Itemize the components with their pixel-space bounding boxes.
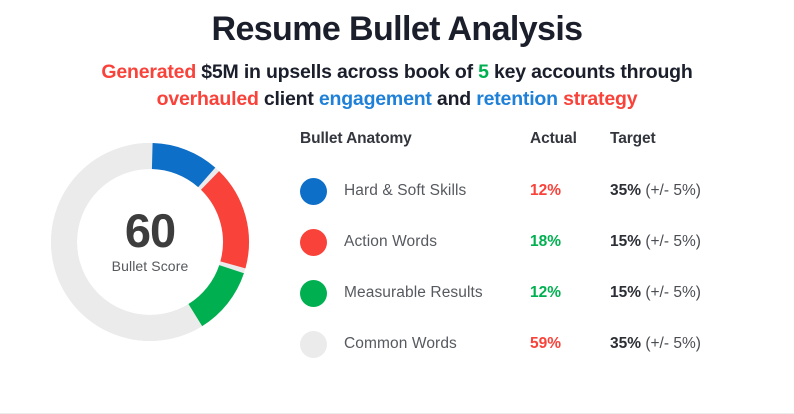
resume-bullet-analysis-infographic: Resume Bullet Analysis Generated $5M in … — [0, 0, 794, 414]
anatomy-cell-inner: Measurable Results — [300, 280, 530, 307]
statement-segment: key accounts through — [489, 61, 698, 83]
actual-value: 18% — [530, 233, 561, 250]
donut-segment — [195, 269, 231, 315]
table-header-row: Bullet Anatomy Actual Target — [300, 130, 774, 166]
statement-segment: and — [432, 88, 477, 110]
target-tolerance: (+/- 5%) — [645, 182, 701, 199]
anatomy-label: Hard & Soft Skills — [344, 182, 466, 200]
target-value: 35% — [610, 335, 641, 352]
page-title: Resume Bullet Analysis — [0, 8, 794, 51]
target-cell: 35% (+/- 5%) — [610, 319, 774, 370]
legend-dot-icon — [300, 280, 327, 307]
actual-cell: 59% — [530, 319, 610, 370]
score-gauge: 60 Bullet Score — [0, 130, 300, 348]
anatomy-cell: Measurable Results — [300, 268, 530, 319]
table-row: Hard & Soft Skills12%35% (+/- 5%) — [300, 166, 774, 217]
statement-segment: retention — [476, 88, 558, 110]
table-head: Bullet Anatomy Actual Target — [300, 130, 774, 166]
statement-segment: Generated — [101, 61, 196, 83]
bullet-anatomy-table: Bullet Anatomy Actual Target Hard & Soft… — [300, 130, 774, 370]
actual-value: 12% — [530, 284, 561, 301]
donut-segment — [152, 156, 206, 177]
column-header-anatomy: Bullet Anatomy — [300, 130, 530, 166]
legend-dot-icon — [300, 229, 327, 256]
statement-segment: client — [259, 88, 319, 110]
table-row: Action Words18%15% (+/- 5%) — [300, 217, 774, 268]
actual-cell: 12% — [530, 268, 610, 319]
target-tolerance: (+/- 5%) — [645, 335, 701, 352]
content-area: 60 Bullet Score Bullet Anatomy Actual Ta… — [0, 114, 794, 370]
header: Resume Bullet Analysis Generated $5M in … — [0, 0, 794, 114]
table-row: Common Words59%35% (+/- 5%) — [300, 319, 774, 370]
donut-segment — [210, 180, 236, 264]
target-tolerance: (+/- 5%) — [645, 233, 701, 250]
target-cell: 15% (+/- 5%) — [610, 268, 774, 319]
target-value: 35% — [610, 182, 641, 199]
bullet-statement: Generated $5M in upsells across book of … — [72, 59, 722, 114]
target-value: 15% — [610, 284, 641, 301]
anatomy-cell: Action Words — [300, 217, 530, 268]
donut-segments — [64, 156, 236, 328]
donut-chart-svg — [44, 136, 256, 348]
anatomy-table-wrap: Bullet Anatomy Actual Target Hard & Soft… — [300, 130, 794, 370]
table-body: Hard & Soft Skills12%35% (+/- 5%)Action … — [300, 166, 774, 370]
actual-value: 12% — [530, 182, 561, 199]
statement-segment: strategy — [563, 88, 637, 110]
target-value: 15% — [610, 233, 641, 250]
anatomy-cell-inner: Action Words — [300, 229, 530, 256]
column-header-actual: Actual — [530, 130, 610, 166]
anatomy-cell: Hard & Soft Skills — [300, 166, 530, 217]
table-row: Measurable Results12%15% (+/- 5%) — [300, 268, 774, 319]
statement-segment: 5 — [478, 61, 489, 83]
donut-segment — [64, 156, 191, 328]
statement-segment: engagement — [319, 88, 432, 110]
target-cell: 35% (+/- 5%) — [610, 166, 774, 217]
anatomy-label: Measurable Results — [344, 284, 483, 302]
actual-value: 59% — [530, 335, 561, 352]
legend-dot-icon — [300, 178, 327, 205]
target-tolerance: (+/- 5%) — [645, 284, 701, 301]
anatomy-cell-inner: Common Words — [300, 331, 530, 358]
anatomy-label: Common Words — [344, 335, 457, 353]
donut-chart: 60 Bullet Score — [44, 136, 256, 348]
statement-segment: $5M in upsells across book of — [196, 61, 478, 83]
actual-cell: 18% — [530, 217, 610, 268]
anatomy-cell: Common Words — [300, 319, 530, 370]
anatomy-cell-inner: Hard & Soft Skills — [300, 178, 530, 205]
column-header-target: Target — [610, 130, 774, 166]
anatomy-label: Action Words — [344, 233, 437, 251]
legend-dot-icon — [300, 331, 327, 358]
statement-segment: overhauled — [157, 88, 259, 110]
target-cell: 15% (+/- 5%) — [610, 217, 774, 268]
actual-cell: 12% — [530, 166, 610, 217]
